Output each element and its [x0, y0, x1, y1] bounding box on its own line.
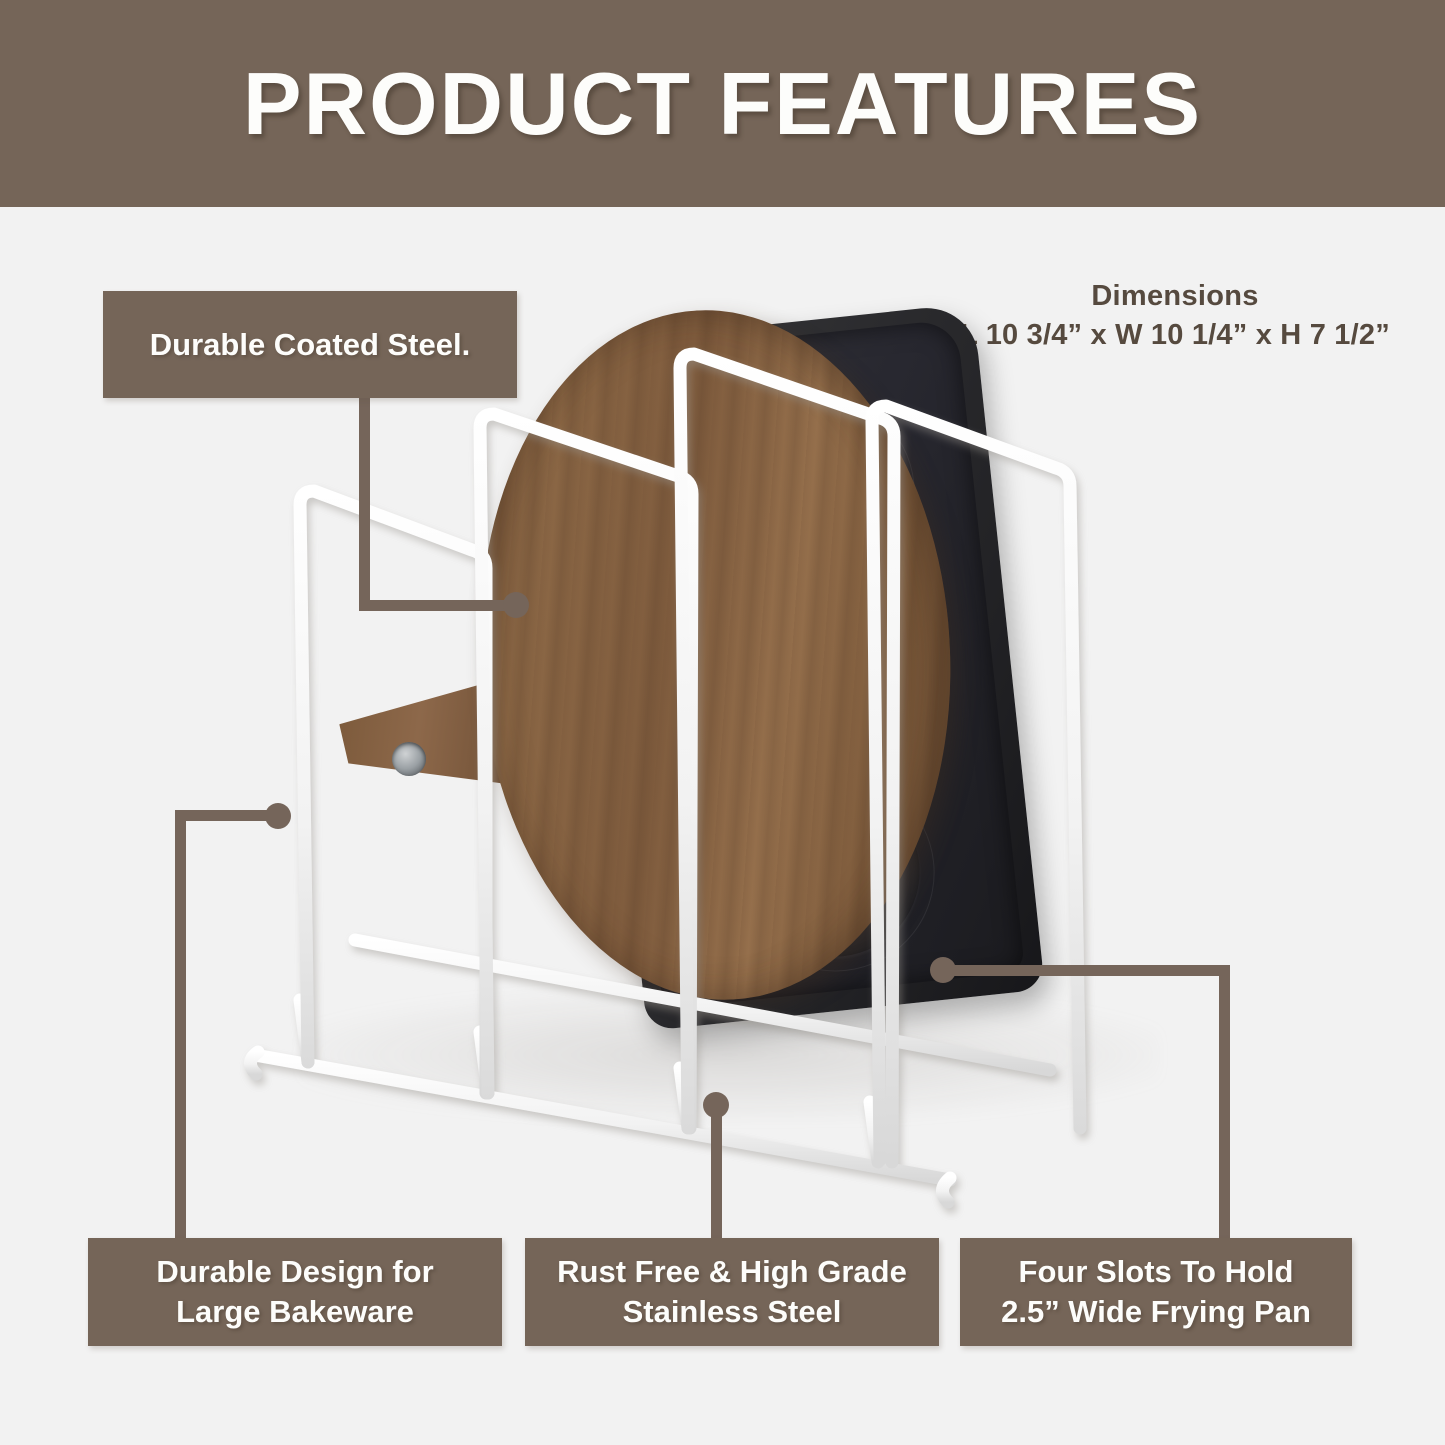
leader-line-large-bakeware-vertical [175, 810, 186, 1240]
rack-divider-1 [300, 491, 486, 1093]
leader-line-stainless-steel-vertical [711, 1100, 722, 1240]
leader-line-coated-steel-horizontal [359, 600, 514, 611]
callout-label-four-slots: Four Slots To Hold 2.5” Wide Frying Pan [960, 1238, 1352, 1346]
page-title: PRODUCT FEATURES [0, 0, 1445, 207]
wire-rack [180, 300, 1300, 1200]
leader-line-four-slots-horizontal [940, 965, 1230, 976]
callout-label-stainless-steel: Rust Free & High Grade Stainless Steel [525, 1238, 939, 1346]
leader-line-coated-steel-vertical [359, 398, 370, 611]
callout-label-coated-steel: Durable Coated Steel. [103, 291, 517, 398]
callout-text-line: Durable Coated Steel. [150, 327, 470, 362]
rack-foot-right [942, 1178, 950, 1202]
callout-text-line: Large Bakeware [176, 1294, 414, 1329]
callout-text-line: Four Slots To Hold [1019, 1254, 1294, 1289]
rack-foot-left [250, 1052, 258, 1074]
rack-base-rail-front [255, 1055, 950, 1180]
callout-label-large-bakeware: Durable Design for Large Bakeware [88, 1238, 502, 1346]
callout-text-line: Rust Free & High Grade [557, 1254, 907, 1289]
callout-text-line: Durable Design for [156, 1254, 433, 1289]
infographic-canvas: PRODUCT FEATURES Dimensions L 10 3/4” x … [0, 0, 1445, 1445]
leader-line-four-slots-vertical [1219, 965, 1230, 1240]
product-photo [180, 300, 1300, 1200]
rack-divider-2 [480, 414, 692, 1128]
leader-line-large-bakeware-horizontal [175, 810, 280, 821]
callout-text-line: 2.5” Wide Frying Pan [1001, 1294, 1311, 1329]
header-banner: PRODUCT FEATURES [0, 0, 1445, 207]
callout-text-line: Stainless Steel [623, 1294, 842, 1329]
callout-dot-coated-steel [503, 592, 529, 618]
